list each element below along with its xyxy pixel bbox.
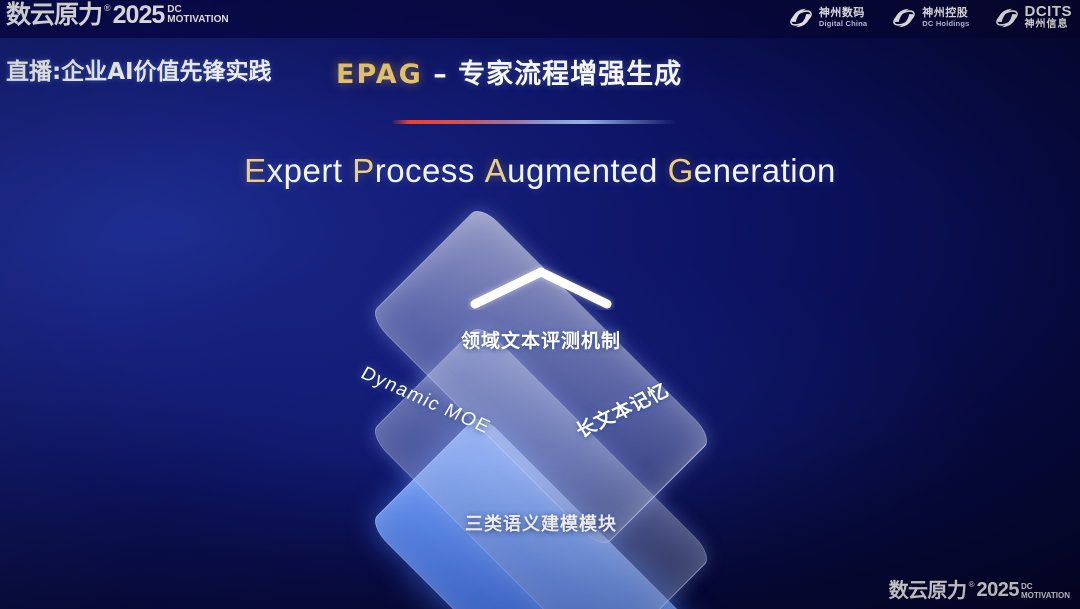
swirl-logo-icon xyxy=(891,5,917,31)
acronym-letter-a: A xyxy=(485,152,508,189)
acronym-expansion: Expert Process Augmented Generation xyxy=(0,152,1080,190)
brand-dc-line2: MOTIVATION xyxy=(167,15,228,25)
watermark-name-cn: 数云原力 xyxy=(889,580,967,601)
partner-label-digital-china: 神州数码 Digital China xyxy=(819,7,867,29)
acronym-letter-g: G xyxy=(668,152,694,189)
partner-name-en: Digital China xyxy=(819,18,867,29)
watermark-registered-mark: ® xyxy=(969,580,975,590)
partner-logo-dc-holdings: 神州控股 DC Holdings xyxy=(891,5,969,31)
brand-dc-motivation: DC MOTIVATION xyxy=(167,2,228,25)
space-3 xyxy=(658,152,668,189)
partner-name-en: DC Holdings xyxy=(922,18,969,29)
brand-registered-mark: ® xyxy=(104,2,111,14)
partner-name-en-big: DCITS xyxy=(1025,4,1073,19)
brand-year: 2025 xyxy=(113,2,165,28)
swirl-logo-icon xyxy=(788,5,814,31)
partner-label-dc-holdings: 神州控股 DC Holdings xyxy=(922,7,969,29)
title-divider xyxy=(392,120,677,124)
stack-layer-top-label: 领域文本评测机制 xyxy=(461,326,621,353)
watermark-year: 2025 xyxy=(976,580,1019,601)
top-bar: 数云原力 ® 2025 DC MOTIVATION 神州数码 xyxy=(0,0,1080,38)
partner-logo-digital-china: 神州数码 Digital China xyxy=(788,5,867,31)
watermark-dc-motivation: DC MOTIVATION xyxy=(1021,580,1070,600)
acronym-word-augmented: ugmented xyxy=(507,152,658,189)
space-2 xyxy=(475,152,485,189)
partner-name-cn: 神州数码 xyxy=(819,7,867,18)
watermark-dc-line1: DC xyxy=(1021,582,1070,591)
space-1 xyxy=(343,152,353,189)
partner-name-cn: 神州控股 xyxy=(922,7,969,18)
page-title-chinese: – 专家流程增强生成 xyxy=(423,59,682,90)
swirl-logo-icon xyxy=(994,5,1020,31)
acronym-letter-e: E xyxy=(244,152,267,189)
brand-logo: 数云原力 ® 2025 DC MOTIVATION xyxy=(6,2,229,28)
partner-logo-group: 神州数码 Digital China 神州控股 DC Holdings xyxy=(788,4,1072,31)
page-title-acronym: EPAG xyxy=(336,59,423,90)
acronym-word-generation: eneration xyxy=(694,152,836,189)
layer-stack-diagram: 领域文本评测机制 Dynamic MOE 长文本记忆 三类语义建模模块 xyxy=(256,218,826,578)
partner-label-dcits: DCITS 神州信息 xyxy=(1025,4,1073,31)
page-title: EPAG – 专家流程增强生成 xyxy=(336,52,682,91)
brand-name-cn: 数云原力 xyxy=(6,2,102,28)
watermark-logo: 数云原力 ® 2025 DC MOTIVATION xyxy=(889,580,1070,601)
slide-canvas: 数云原力 ® 2025 DC MOTIVATION 神州数码 xyxy=(0,0,1080,609)
watermark-dc-line2: MOTIVATION xyxy=(1021,591,1070,600)
acronym-letter-p: P xyxy=(352,152,375,189)
live-stream-title: 直播:企业AI价值先锋实践 xyxy=(6,52,272,86)
acronym-word-expert: xpert xyxy=(267,152,343,189)
partner-name-cn: 神州信息 xyxy=(1025,19,1073,31)
chevron-up-icon xyxy=(467,264,615,310)
acronym-word-process: rocess xyxy=(375,152,475,189)
partner-logo-dcits: DCITS 神州信息 xyxy=(994,4,1073,31)
stack-layer-bottom-label: 三类语义建模模块 xyxy=(465,510,617,536)
